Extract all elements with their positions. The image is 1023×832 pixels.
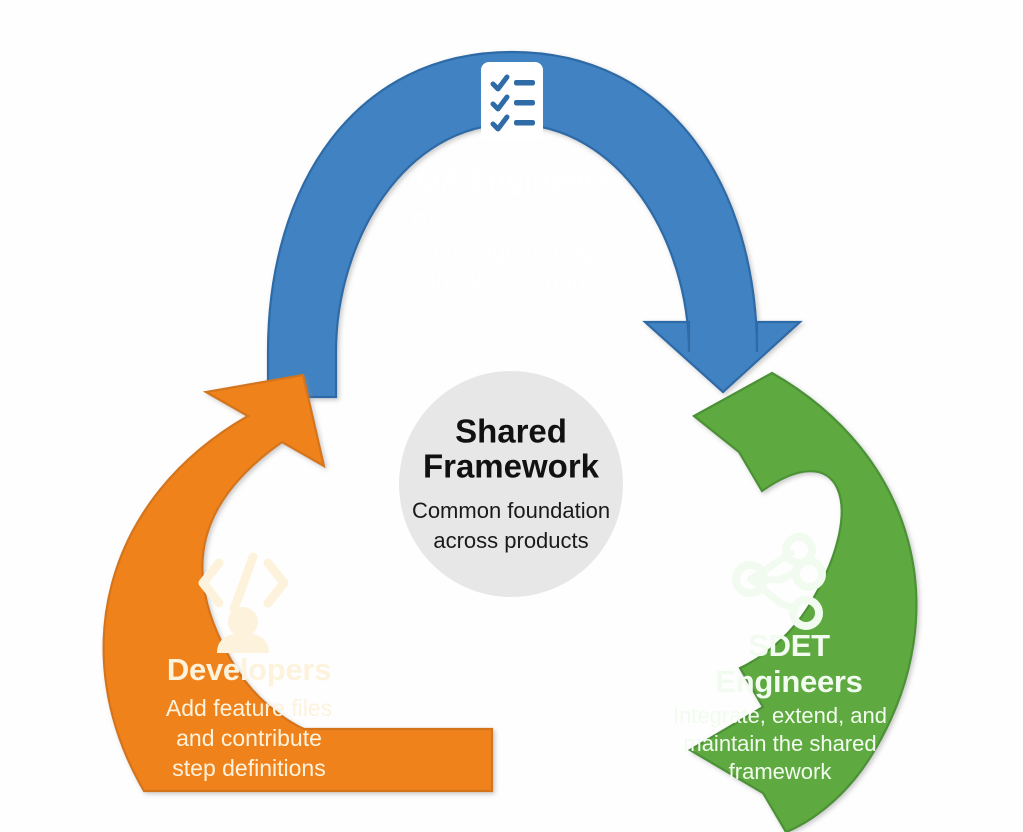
- developers-desc-line-1: Add feature files: [166, 695, 332, 721]
- sdet-engineers-title-line-2: Engineers: [715, 664, 862, 699]
- qa-engineers-desc-line-1: Review and ensure: [411, 209, 616, 236]
- node-sdet-engineers[interactable]: SDET Engineers Integrate, extend, and ma…: [673, 373, 916, 832]
- sdet-engineers-desc-line-2: maintain the shared: [683, 731, 876, 756]
- shared-framework-title-line-2: Framework: [423, 448, 600, 485]
- qa-engineers-title: QA Engineers: [417, 164, 611, 197]
- qa-engineers-desc-line-2: coverage through: [421, 238, 608, 265]
- sdet-engineers-desc-line-1: Integrate, extend, and: [673, 703, 887, 728]
- checklist-icon: [481, 62, 543, 141]
- shared-framework-title-line-1: Shared: [455, 413, 567, 450]
- diagram-canvas: QA Engineers Review and ensure coverage …: [0, 0, 1023, 832]
- qa-engineers-desc-line-3: Gherkin scenarios: [417, 267, 610, 294]
- sdet-engineers-title-line-1: SDET: [748, 628, 830, 663]
- cycle-diagram-svg: QA Engineers Review and ensure coverage …: [0, 0, 1023, 832]
- node-qa-engineers[interactable]: QA Engineers Review and ensure coverage …: [268, 52, 800, 397]
- sdet-engineers-desc-line-3: framework: [729, 759, 833, 784]
- shared-framework-subtitle-line-1: Common foundation: [412, 498, 610, 523]
- developers-desc-line-3: step definitions: [172, 755, 325, 781]
- developers-desc-line-2: and contribute: [176, 725, 322, 751]
- center-shared-framework[interactable]: Shared Framework Common foundation acros…: [399, 371, 623, 597]
- developers-title: Developers: [167, 652, 331, 687]
- shared-framework-subtitle-line-2: across products: [433, 528, 588, 553]
